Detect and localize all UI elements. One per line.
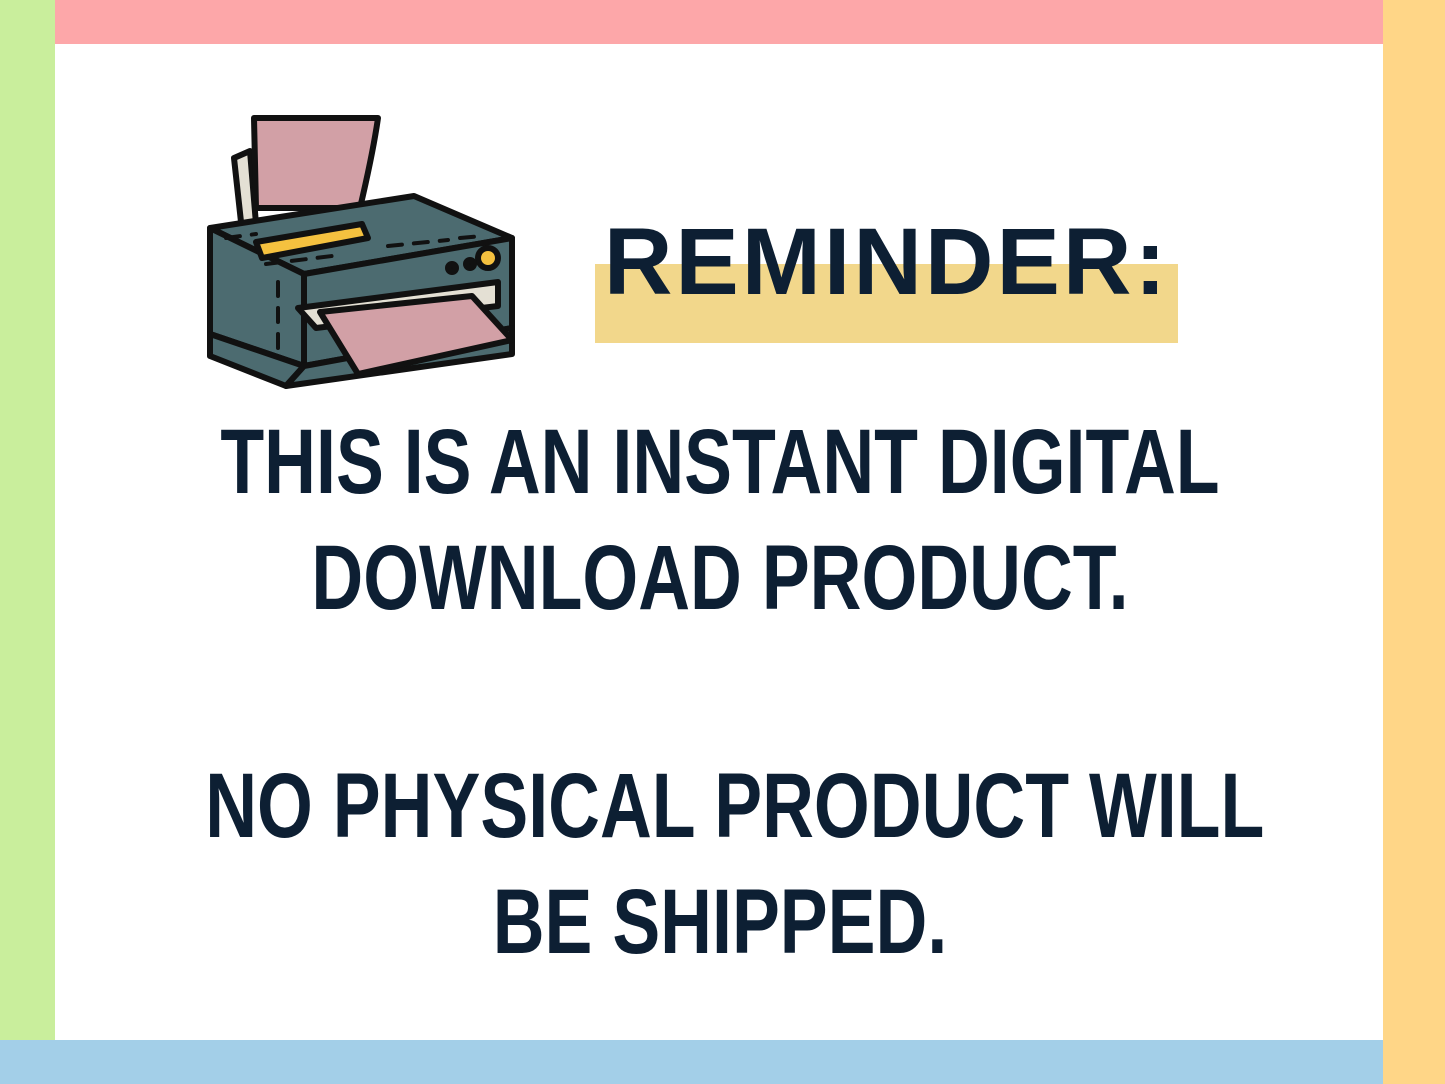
printer-icon bbox=[182, 96, 550, 396]
top-color-bar bbox=[55, 0, 1383, 44]
right-color-bar bbox=[1383, 0, 1445, 1084]
bottom-color-bar bbox=[0, 1040, 1383, 1084]
body-line: DOWNLOAD PRODUCT. bbox=[205, 520, 1235, 636]
body-line: BE SHIPPED. bbox=[205, 864, 1235, 980]
left-color-bar bbox=[0, 0, 55, 1040]
body-line: NO PHYSICAL PRODUCT WILL bbox=[205, 748, 1235, 864]
headline-block: REMINDER: bbox=[595, 210, 1180, 345]
body-line: THIS IS AN INSTANT DIGITAL bbox=[205, 404, 1235, 520]
notice-body: THIS IS AN INSTANT DIGITAL DOWNLOAD PROD… bbox=[60, 404, 1380, 980]
paragraph-spacer bbox=[60, 636, 1380, 748]
page-title: REMINDER: bbox=[595, 210, 1178, 314]
notice-graphic-canvas: REMINDER: THIS IS AN INSTANT DIGITAL DOW… bbox=[0, 0, 1445, 1084]
